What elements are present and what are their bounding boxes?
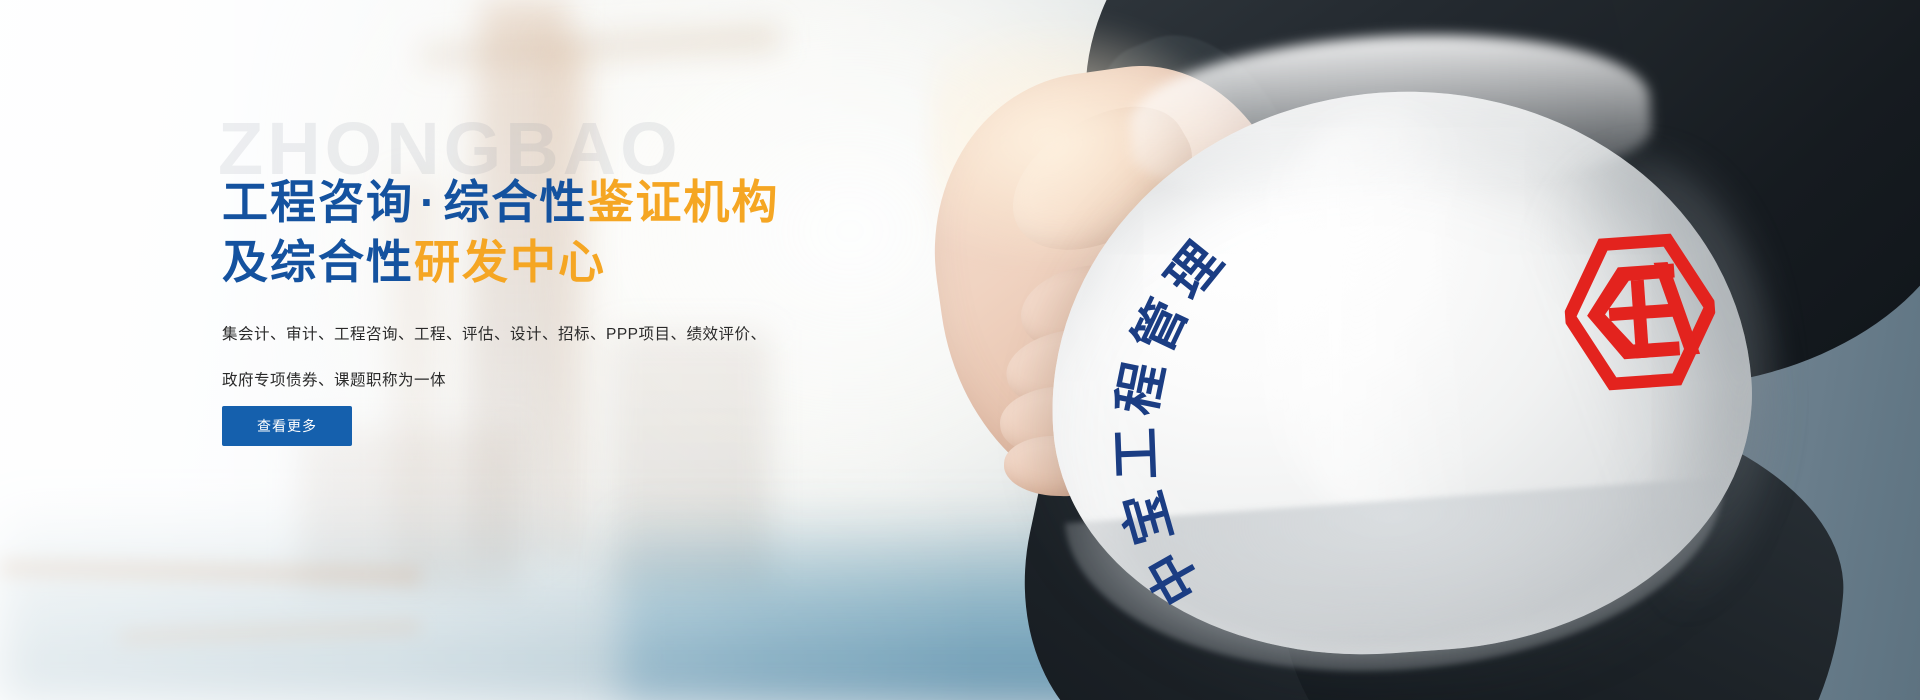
description-line-1: 集会计、审计、工程咨询、工程、评估、设计、招标、PPP项目、绩效评价、 (222, 312, 842, 358)
headline-segment-1: 工程咨询 (222, 176, 414, 228)
hero-content: ZHONGBAO 工程咨询·综合性鉴证机构 及综合性研发中心 集会计、审计、工程… (222, 0, 1042, 700)
headline-segment-4: 及综合性 (222, 236, 414, 288)
zhongbao-hexagon-logo (1560, 231, 1720, 393)
hero-banner: 中宝工程管理 ZHONGBAO 工程咨询·综合性鉴证机构 及综合性研 (0, 0, 1920, 700)
hero-description: 集会计、审计、工程咨询、工程、评估、设计、招标、PPP项目、绩效评价、 政府专项… (222, 312, 842, 404)
view-more-button[interactable]: 查看更多 (222, 406, 352, 446)
description-line-2: 政府专项债券、课题职称为一体 (222, 358, 842, 404)
headline-segment-3: 鉴证机构 (587, 176, 779, 228)
headline-segment-5: 研发中心 (414, 236, 606, 288)
headline-segment-2: 综合性 (443, 176, 587, 228)
svg-text:中宝工程管理: 中宝工程管理 (1091, 222, 1264, 618)
helmet-brand-text: 中宝工程管理 (1091, 222, 1264, 618)
page-title: 工程咨询·综合性鉴证机构 及综合性研发中心 (222, 172, 1042, 292)
headline-separator: · (414, 176, 443, 228)
